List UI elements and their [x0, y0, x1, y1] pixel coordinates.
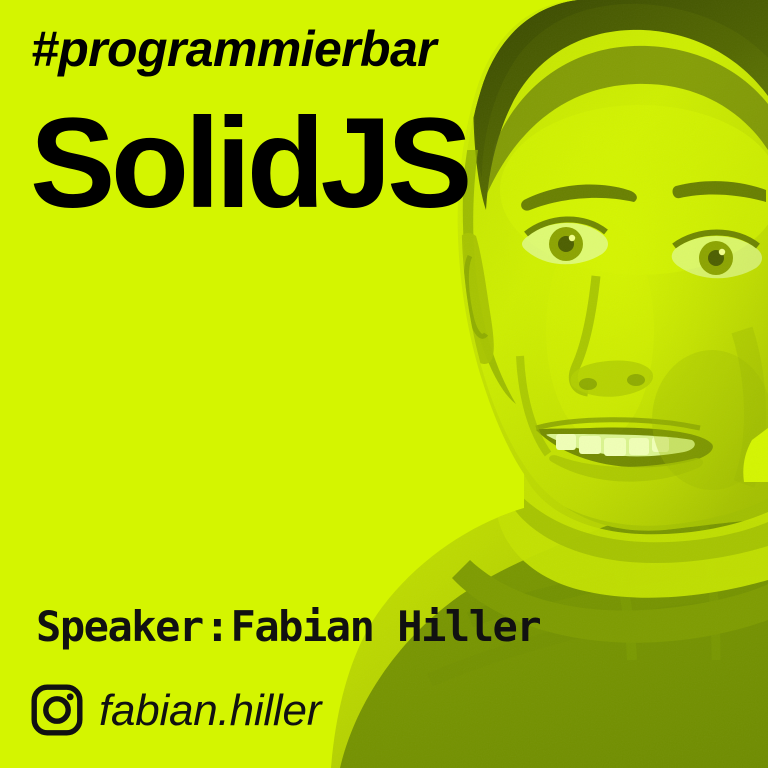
episode-title: SolidJS [30, 100, 468, 228]
instagram-icon [31, 684, 83, 736]
instagram-handle-row[interactable]: fabian.hiller [31, 684, 321, 736]
podcast-hashtag: #programmierbar [31, 24, 436, 74]
podcast-episode-poster: #programmierbar SolidJS Speaker:Fabian H… [0, 0, 768, 768]
instagram-handle: fabian.hiller [99, 689, 321, 733]
speaker-label: Speaker [36, 602, 203, 651]
speaker-credit: Speaker:Fabian Hiller [36, 606, 540, 648]
poster-text-layer: #programmierbar SolidJS Speaker:Fabian H… [0, 0, 768, 768]
speaker-separator: : [203, 602, 231, 651]
speaker-name: Fabian Hiller [231, 602, 541, 651]
